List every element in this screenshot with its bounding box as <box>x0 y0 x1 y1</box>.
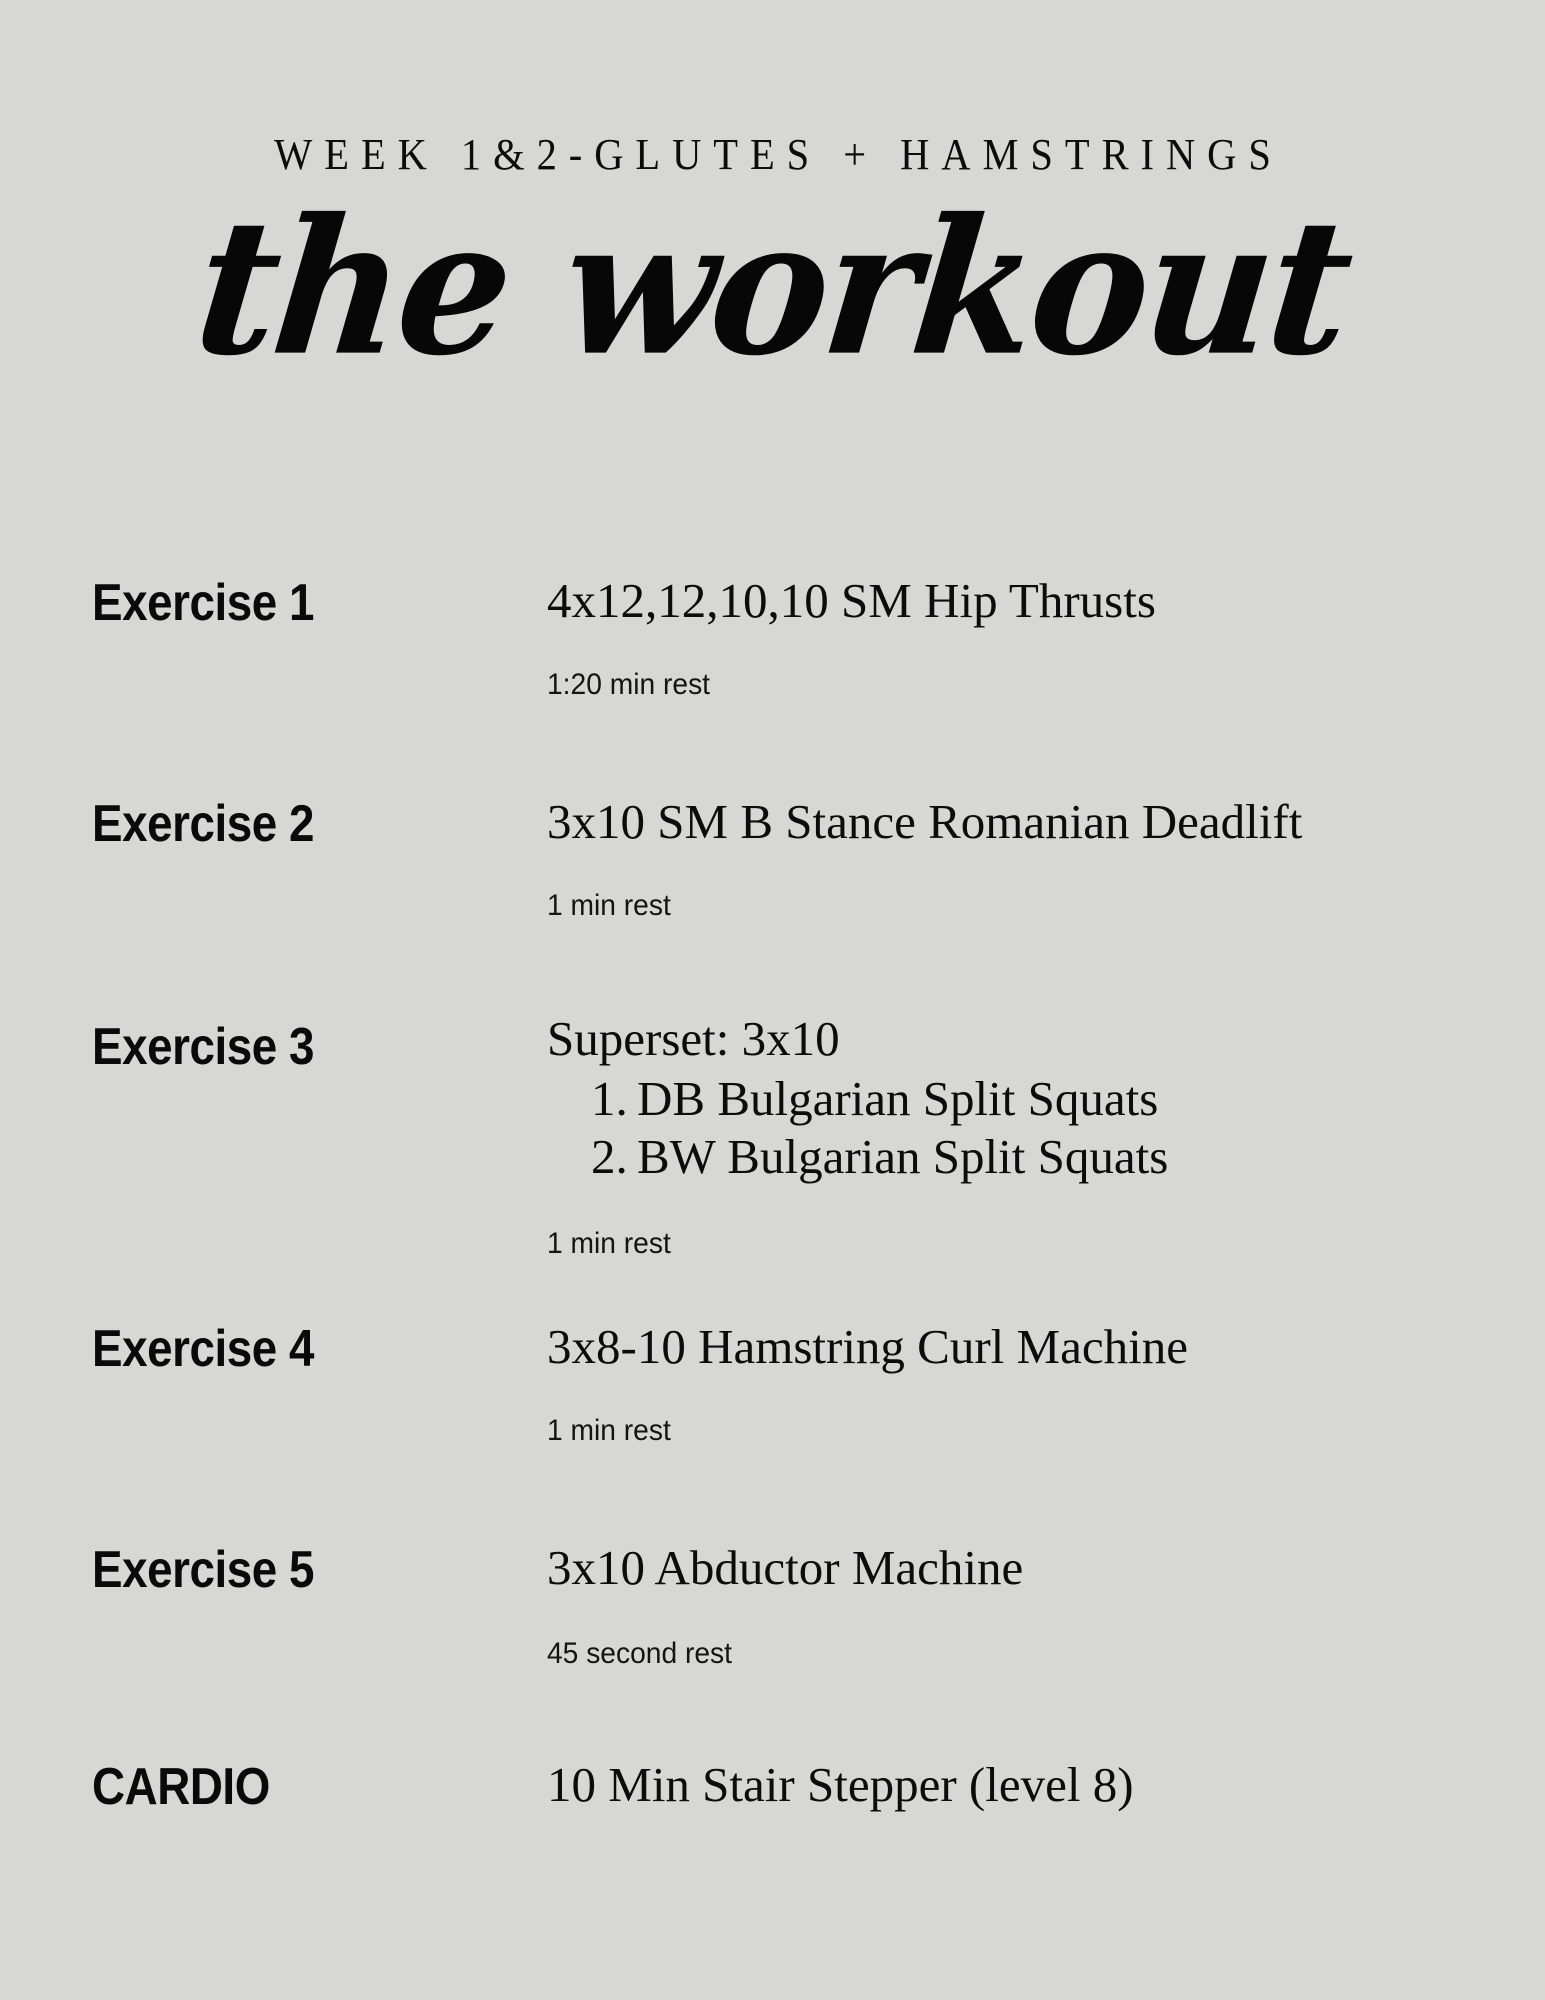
exercise-prescription: 3x8-10 Hamstring Curl Machine <box>547 1321 1545 1374</box>
superset-item-number: 2. <box>591 1128 637 1186</box>
exercise-label: Exercise 3 <box>92 1021 492 1073</box>
cardio-row: CARDIO 10 Min Stair Stepper (level 8) <box>0 1759 1545 1813</box>
exercise-prescription: 3x10 SM B Stance Romanian Deadlift <box>547 796 1545 849</box>
exercise-prescription: 3x10 Abductor Machine <box>547 1542 1545 1595</box>
exercise-rest: 1 min rest <box>547 1229 1485 1259</box>
exercise-detail: 3x8-10 Hamstring Curl Machine 1 min rest <box>547 1321 1545 1446</box>
exercise-rest: 1 min rest <box>547 1416 1485 1446</box>
exercise-row: Exercise 4 3x8-10 Hamstring Curl Machine… <box>0 1321 1545 1446</box>
poster-eyebrow-title: WEEK 1&2-GLUTES + HAMSTRINGS <box>62 133 1483 177</box>
poster-script-title: the workout <box>0 190 1545 386</box>
exercise-label: Exercise 4 <box>92 1323 492 1375</box>
exercise-list: Exercise 1 4x12,12,10,10 SM Hip Thrusts … <box>0 575 1545 1813</box>
cardio-detail: 10 Min Stair Stepper (level 8) <box>547 1759 1545 1812</box>
exercise-label: Exercise 5 <box>92 1544 492 1596</box>
exercise-row: Exercise 1 4x12,12,10,10 SM Hip Thrusts … <box>0 575 1545 700</box>
exercise-detail: 3x10 Abductor Machine 45 second rest <box>547 1542 1545 1669</box>
superset-item-label: DB Bulgarian Split Squats <box>637 1070 1158 1128</box>
cardio-label: CARDIO <box>92 1761 492 1813</box>
superset-items: 1. DB Bulgarian Split Squats 2. BW Bulga… <box>547 1070 1545 1186</box>
exercise-label: Exercise 2 <box>92 798 492 850</box>
superset-item: 2. BW Bulgarian Split Squats <box>591 1128 1545 1186</box>
exercise-rest: 45 second rest <box>547 1639 1485 1669</box>
cardio-prescription: 10 Min Stair Stepper (level 8) <box>547 1759 1545 1812</box>
exercise-rest: 1:20 min rest <box>547 670 1485 700</box>
exercise-rest: 1 min rest <box>547 891 1485 921</box>
exercise-row: Exercise 2 3x10 SM B Stance Romanian Dea… <box>0 796 1545 921</box>
exercise-row: Exercise 3 Superset: 3x10 1. DB Bulgaria… <box>0 1013 1545 1260</box>
exercise-prescription: Superset: 3x10 <box>547 1013 1545 1066</box>
exercise-label: Exercise 1 <box>92 577 492 629</box>
superset-item: 1. DB Bulgarian Split Squats <box>591 1070 1545 1128</box>
exercise-row: Exercise 5 3x10 Abductor Machine 45 seco… <box>0 1542 1545 1669</box>
exercise-detail: 3x10 SM B Stance Romanian Deadlift 1 min… <box>547 796 1545 921</box>
workout-poster: WEEK 1&2-GLUTES + HAMSTRINGS the workout… <box>0 0 1545 2000</box>
superset-item-number: 1. <box>591 1070 637 1128</box>
exercise-detail: Superset: 3x10 1. DB Bulgarian Split Squ… <box>547 1013 1545 1260</box>
superset-item-label: BW Bulgarian Split Squats <box>637 1128 1168 1186</box>
exercise-prescription: 4x12,12,10,10 SM Hip Thrusts <box>547 575 1545 628</box>
exercise-detail: 4x12,12,10,10 SM Hip Thrusts 1:20 min re… <box>547 575 1545 700</box>
